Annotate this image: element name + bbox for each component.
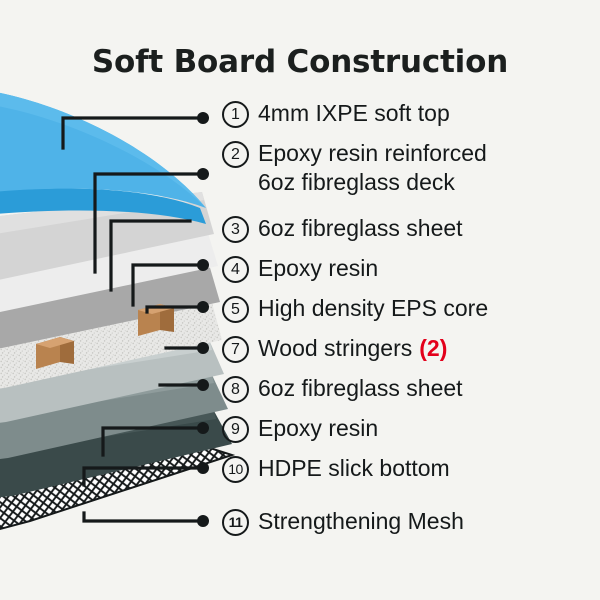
legend-number-badge: 3 xyxy=(222,216,249,243)
legend-number-badge: 4 xyxy=(222,256,249,283)
legend-item-3[interactable]: 3 6oz fibreglass sheet xyxy=(222,214,463,243)
legend-number-badge: 10 xyxy=(222,456,249,483)
legend-item-11[interactable]: 11 Strengthening Mesh xyxy=(222,507,464,536)
legend-item-label: Wood stringers xyxy=(258,334,412,363)
soft-board-construction-infographic: Soft Board Construction 1 4mm IXPE soft … xyxy=(0,0,600,600)
legend-item-9[interactable]: 9 Epoxy resin xyxy=(222,414,378,443)
legend-number-badge: 11 xyxy=(222,509,249,536)
legend-number-badge: 9 xyxy=(222,416,249,443)
leader-line-11 xyxy=(84,513,203,521)
legend-item-10[interactable]: 10 HDPE slick bottom xyxy=(222,454,450,483)
legend-number-badge: 7 xyxy=(222,336,249,363)
legend-number-badge: 8 xyxy=(222,376,249,403)
legend-item-label: Epoxy resin xyxy=(258,254,378,283)
legend-item-5[interactable]: 5 High density EPS core xyxy=(222,294,488,323)
legend-item-4[interactable]: 4 Epoxy resin xyxy=(222,254,378,283)
page-title: Soft Board Construction xyxy=(0,44,600,80)
legend-item-7[interactable]: 7 Wood stringers (2) xyxy=(222,334,447,363)
legend-item-label: Strengthening Mesh xyxy=(258,507,464,536)
legend-item-label: HDPE slick bottom xyxy=(258,454,450,483)
legend-item-1[interactable]: 1 4mm IXPE soft top xyxy=(222,99,450,128)
legend-item-2[interactable]: 2 Epoxy resin reinforced 6oz fibreglass … xyxy=(222,139,487,197)
legend-item-label: 6oz fibreglass sheet xyxy=(258,214,463,243)
legend-number-badge: 1 xyxy=(222,101,249,128)
legend-item-8[interactable]: 8 6oz fibreglass sheet xyxy=(222,374,463,403)
legend-number-badge: 5 xyxy=(222,296,249,323)
legend-item-label: 6oz fibreglass sheet xyxy=(258,374,463,403)
legend-item-label: Epoxy resin xyxy=(258,414,378,443)
legend-item-label: Epoxy resin reinforced 6oz fibreglass de… xyxy=(258,139,487,197)
legend-item-count: (2) xyxy=(419,334,447,363)
legend-item-label: 4mm IXPE soft top xyxy=(258,99,450,128)
legend-number-badge: 2 xyxy=(222,141,249,168)
legend-item-label: High density EPS core xyxy=(258,294,488,323)
